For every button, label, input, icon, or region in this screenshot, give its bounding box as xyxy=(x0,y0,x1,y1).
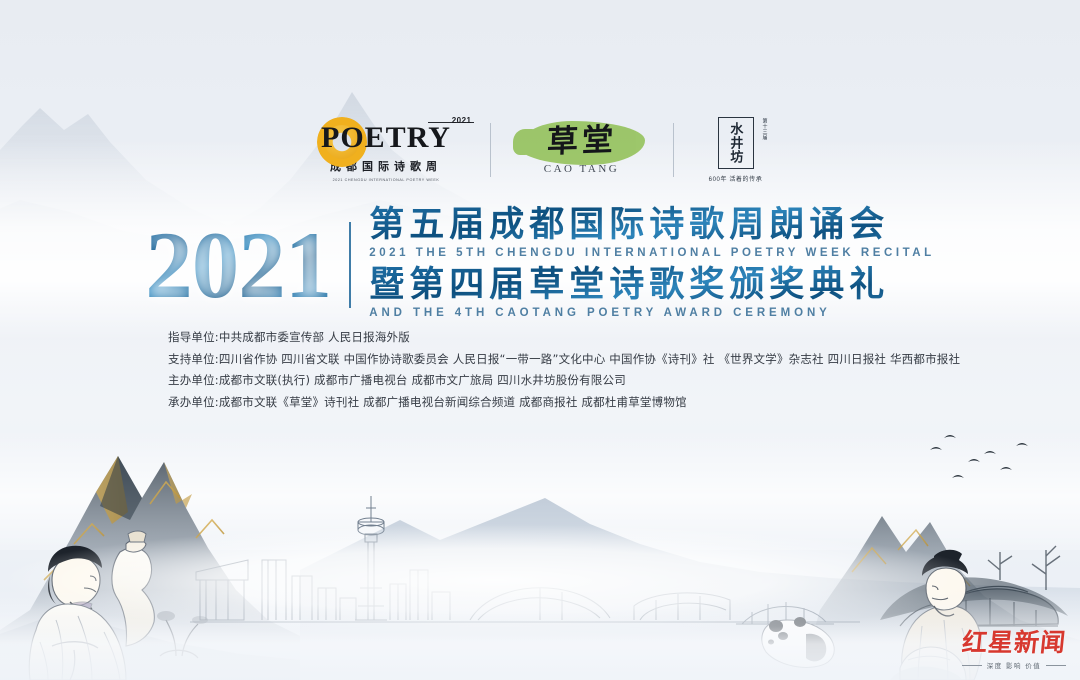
watermark-tagline-row: 深度 影响 价值 xyxy=(956,660,1072,670)
poetry-logo: 2021 POETRY 成都国际诗歌周 2021 CHENGDU INTERNA… xyxy=(283,119,490,182)
shuijingfang-logo: 水井坊 第十三届 600年 活着的传承 xyxy=(674,117,798,183)
bottom-illustration xyxy=(0,420,1080,680)
panda-illustration xyxy=(762,617,834,667)
title-vertical-rule xyxy=(349,222,351,308)
title-chinese-line-2: 暨第四届草堂诗歌奖颁奖典礼 xyxy=(369,265,935,304)
foreground-fog-bottom xyxy=(0,590,1080,680)
poetry-logo-year: 2021 xyxy=(452,116,472,125)
shuijingfang-subtitle: 600年 活着的传承 xyxy=(709,174,763,183)
background-cloud-band xyxy=(0,430,1080,550)
watermark-rule-left xyxy=(962,665,982,666)
caotang-logo: 草堂 CAO TANG xyxy=(491,117,673,183)
title-english-line-1: 2021 THE 5TH CHENGDU INTERNATIONAL POETR… xyxy=(369,245,935,262)
watermark-hongxing-news: 红星新闻 深度 影响 价值 xyxy=(956,631,1072,670)
shuijingfang-side-text: 第十三届 xyxy=(762,118,769,140)
credit-line-organizer: 承办单位:成都市文联《草堂》诗刊社 成都广播电视台新闻综合频道 成都商报社 成都… xyxy=(168,397,998,409)
poetry-logo-english: 2021 CHENGDU INTERNATIONAL POETRY WEEK xyxy=(333,177,440,182)
watermark-name: 红星新闻 xyxy=(955,631,1074,656)
main-title-block: 2021 第五届成都国际诗歌周朗诵会 2021 THE 5TH CHENGDU … xyxy=(0,205,1080,325)
credit-line-guidance: 指导单位:中共成都市委宣传部 人民日报海外版 xyxy=(168,332,998,344)
credit-line-host: 主办单位:成都市文联(执行) 成都市广播电视台 成都市文广旅局 四川水井坊股份有… xyxy=(168,375,998,387)
shuijingfang-chinese: 水井坊 xyxy=(729,122,743,164)
poet-figure-left xyxy=(29,531,154,680)
title-english-line-2: AND THE 4TH CAOTANG POETRY AWARD CEREMON… xyxy=(369,305,935,322)
title-chinese-line-1: 第五届成都国际诗歌周朗诵会 xyxy=(369,205,935,244)
watermark-tagline: 深度 影响 价值 xyxy=(987,660,1042,670)
credits-block: 指导单位:中共成都市委宣传部 人民日报海外版 支持单位:四川省作协 四川省文联 … xyxy=(168,332,998,418)
title-year: 2021 xyxy=(145,220,347,310)
foreground-fog xyxy=(0,510,1080,640)
poetry-logo-word: POETRY xyxy=(321,123,451,153)
poster-canvas: 2021 POETRY 成都国际诗歌周 2021 CHENGDU INTERNA… xyxy=(0,0,1080,680)
sponsor-logo-strip: 2021 POETRY 成都国际诗歌周 2021 CHENGDU INTERNA… xyxy=(0,112,1080,188)
watermark-rule-right xyxy=(1046,665,1066,666)
credit-line-support: 支持单位:四川省作协 四川省文联 中国作协诗歌委员会 人民日报“一带一路”文化中… xyxy=(168,354,998,366)
caotang-logo-chinese: 草堂 xyxy=(546,124,617,157)
caotang-logo-english: CAO TANG xyxy=(544,163,619,175)
flying-birds xyxy=(930,435,1028,478)
